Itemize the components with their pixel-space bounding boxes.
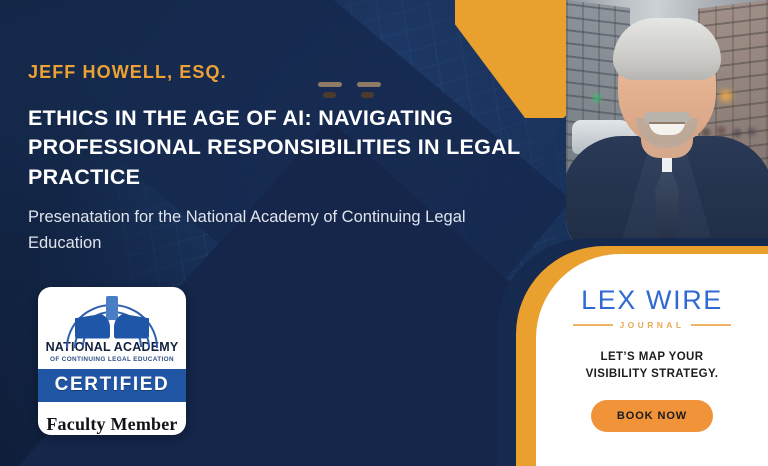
book-now-button[interactable]: BOOK NOW — [591, 400, 713, 432]
hair — [613, 18, 721, 80]
book-page-right — [114, 313, 149, 339]
lexwire-journal-label: JOURNAL — [620, 320, 685, 330]
traffic-light-glow — [593, 94, 601, 102]
eye-right — [361, 92, 374, 98]
badge-role-label: Faculty Member — [46, 414, 177, 435]
eyebrow-left — [318, 82, 342, 87]
eyebrow-right — [357, 82, 381, 87]
lexwire-logo-secondary: JOURNAL — [573, 320, 732, 330]
slide-title: ETHICS IN THE AGE OF AI: NAVIGATING PROF… — [28, 104, 528, 192]
badge-certified-band: CERTIFIED — [38, 369, 186, 402]
street-light-glow — [720, 90, 732, 102]
promo-tagline-line1: LET’S MAP YOUR — [586, 349, 719, 366]
logo-rule-left — [573, 324, 613, 326]
book-pages — [75, 313, 149, 339]
promo-panel-content: LEX WIRE JOURNAL LET’S MAP YOUR VISIBILI… — [536, 254, 768, 466]
lexwire-logo-primary: LEX WIRE — [581, 287, 723, 314]
speaker-headshot — [566, 0, 768, 254]
logo-rule-right — [691, 324, 731, 326]
promo-tagline: LET’S MAP YOUR VISIBILITY STRATEGY. — [586, 349, 719, 382]
open-book-icon — [38, 290, 186, 340]
eye-left — [323, 92, 336, 98]
presentation-slide: JEFF HOWELL, ESQ. ETHICS IN THE AGE OF A… — [0, 0, 768, 466]
book-page-left — [75, 313, 110, 339]
certification-badge: NATIONAL ACADEMY OF CONTINUING LEGAL EDU… — [38, 287, 186, 435]
badge-org-subtitle: OF CONTINUING LEGAL EDUCATION — [50, 356, 174, 363]
speaker-name: JEFF HOWELL, ESQ. — [28, 62, 227, 83]
promo-tagline-line2: VISIBILITY STRATEGY. — [586, 366, 719, 383]
slide-subtitle: Presenatation for the National Academy o… — [28, 205, 508, 256]
